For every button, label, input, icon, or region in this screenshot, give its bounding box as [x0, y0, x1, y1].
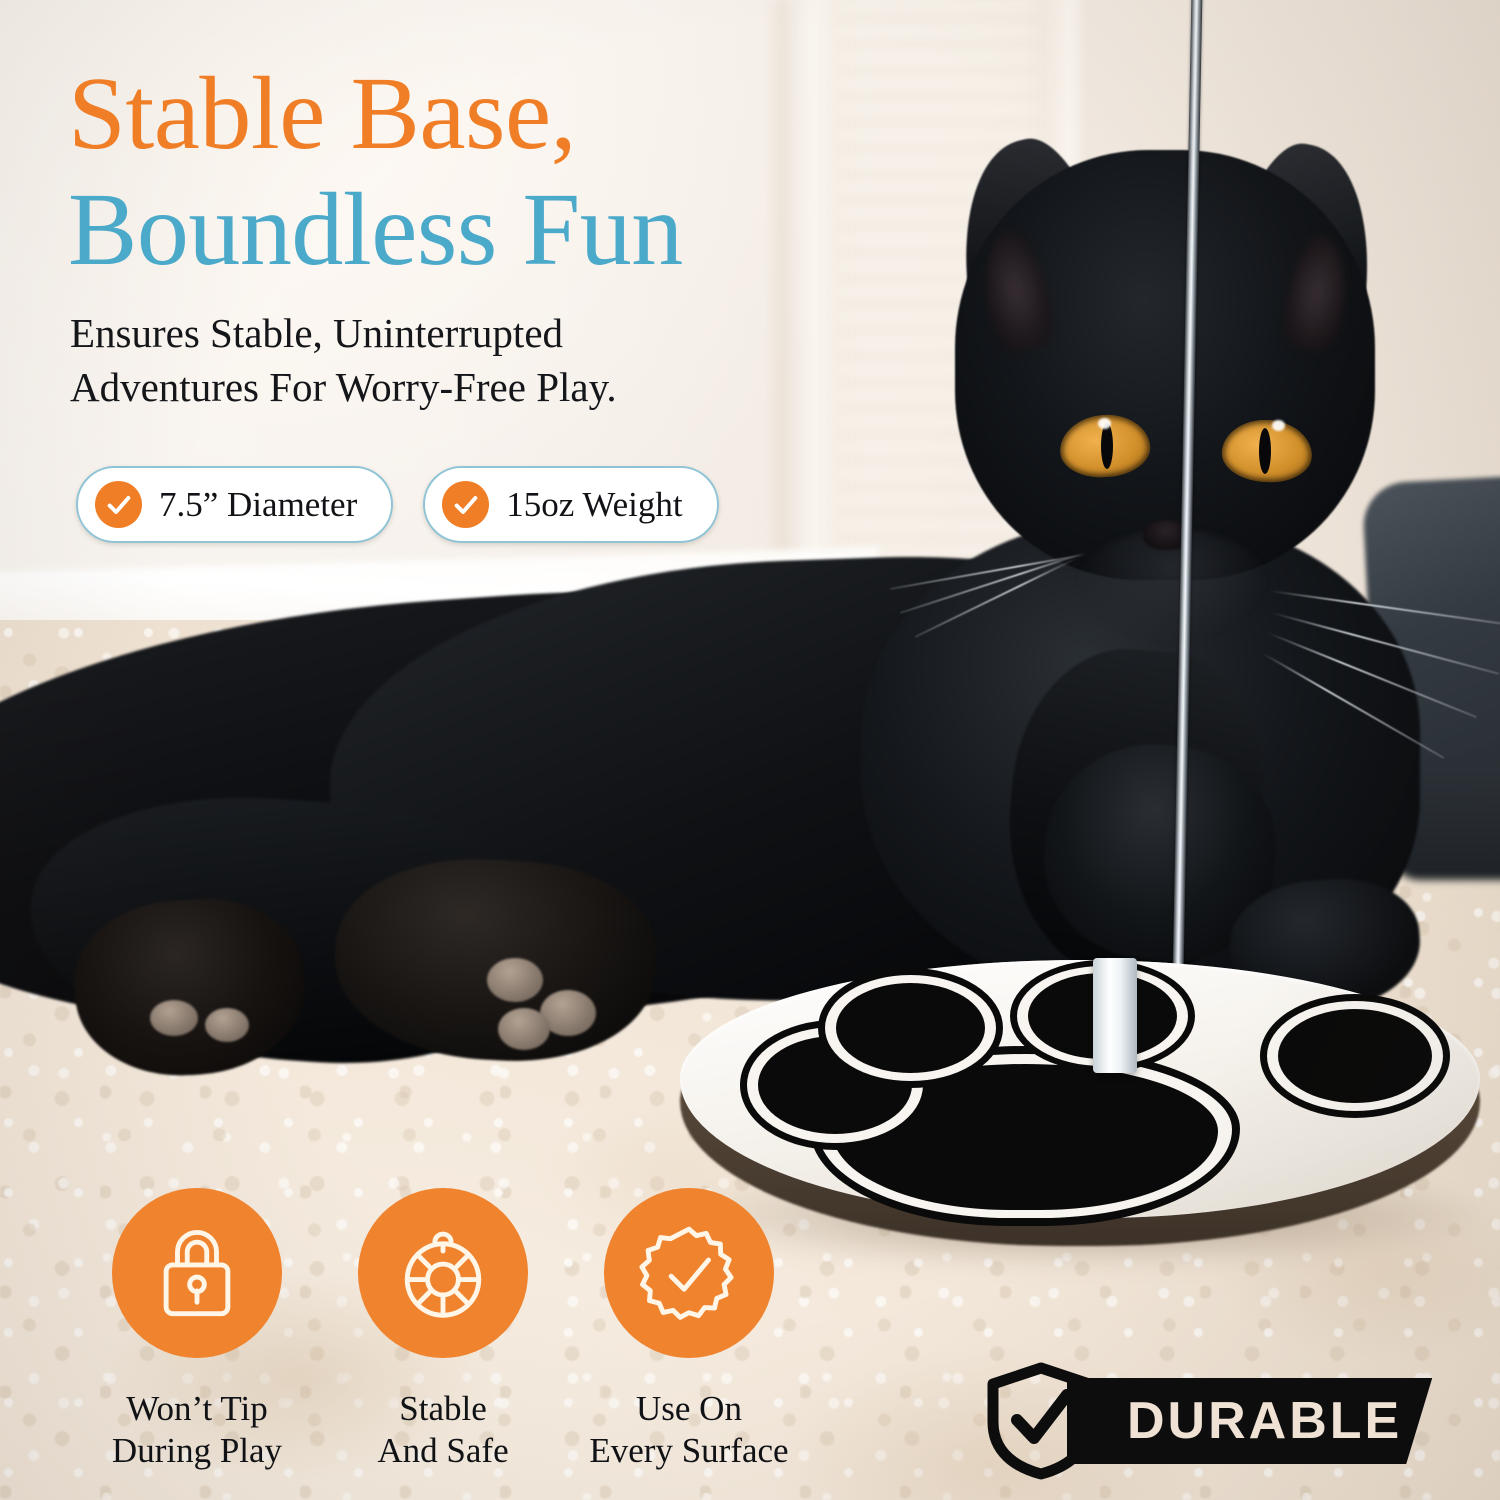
feature-label: Stable And Safe — [377, 1388, 508, 1472]
feature-icon-badge — [604, 1188, 774, 1358]
durable-label: DURABLE — [1127, 1391, 1402, 1451]
feature-every-surface: Use On Every Surface — [566, 1188, 812, 1472]
toe-bean — [150, 1000, 198, 1036]
subheadline: Ensures Stable, Uninterrupted Adventures… — [70, 306, 850, 414]
cat-eye-glint-left — [1098, 418, 1111, 429]
life-ring-icon — [391, 1221, 495, 1325]
feature-stable-safe: Stable And Safe — [320, 1188, 566, 1472]
cat-pupil-right — [1259, 428, 1271, 474]
cat-pupil-left — [1101, 423, 1113, 469]
spec-pill-diameter[interactable]: 7.5” Diameter — [76, 466, 393, 543]
headline-line-1: Stable Base, — [68, 56, 968, 172]
check-circle-icon — [95, 481, 142, 528]
spec-pill-weight[interactable]: 15oz Weight — [423, 466, 718, 543]
feature-label: Use On Every Surface — [589, 1388, 788, 1472]
feature-icon-badge — [112, 1188, 282, 1358]
subheadline-line-1: Ensures Stable, Uninterrupted — [70, 306, 850, 360]
feature-label: Won’t Tip During Play — [112, 1388, 282, 1472]
durable-badge: DURABLE — [985, 1362, 1432, 1480]
toe-bean — [487, 958, 543, 1002]
base-post-connector — [1093, 958, 1137, 1073]
paw-toe-fill — [1278, 1009, 1432, 1103]
headline-line-2: Boundless Fun — [68, 172, 968, 288]
toe-bean — [498, 1008, 550, 1050]
feature-row: Won’t Tip During Play Stable A — [74, 1188, 814, 1472]
feature-icon-badge — [358, 1188, 528, 1358]
headline: Stable Base, Boundless Fun — [68, 56, 968, 289]
padlock-icon — [145, 1221, 249, 1325]
subheadline-line-2: Adventures For Worry-Free Play. — [70, 360, 850, 414]
cat-eye-glint-right — [1272, 420, 1285, 431]
paw-toe-fill — [836, 983, 985, 1073]
cat-head — [955, 150, 1375, 580]
spec-pill-label: 7.5” Diameter — [159, 485, 357, 525]
shield-check-icon — [985, 1362, 1097, 1480]
check-circle-icon — [442, 481, 489, 528]
spec-pill-label: 15oz Weight — [506, 485, 682, 525]
product-infographic: Stable Base, Boundless Fun Ensures Stabl… — [0, 0, 1500, 1500]
feature-wont-tip: Won’t Tip During Play — [74, 1188, 320, 1472]
seal-check-icon — [637, 1221, 741, 1325]
toe-bean — [205, 1008, 249, 1042]
base-top-surface — [680, 960, 1480, 1218]
durable-label-bar: DURABLE — [1067, 1378, 1432, 1464]
spec-pill-group: 7.5” Diameter 15oz Weight — [76, 466, 719, 543]
